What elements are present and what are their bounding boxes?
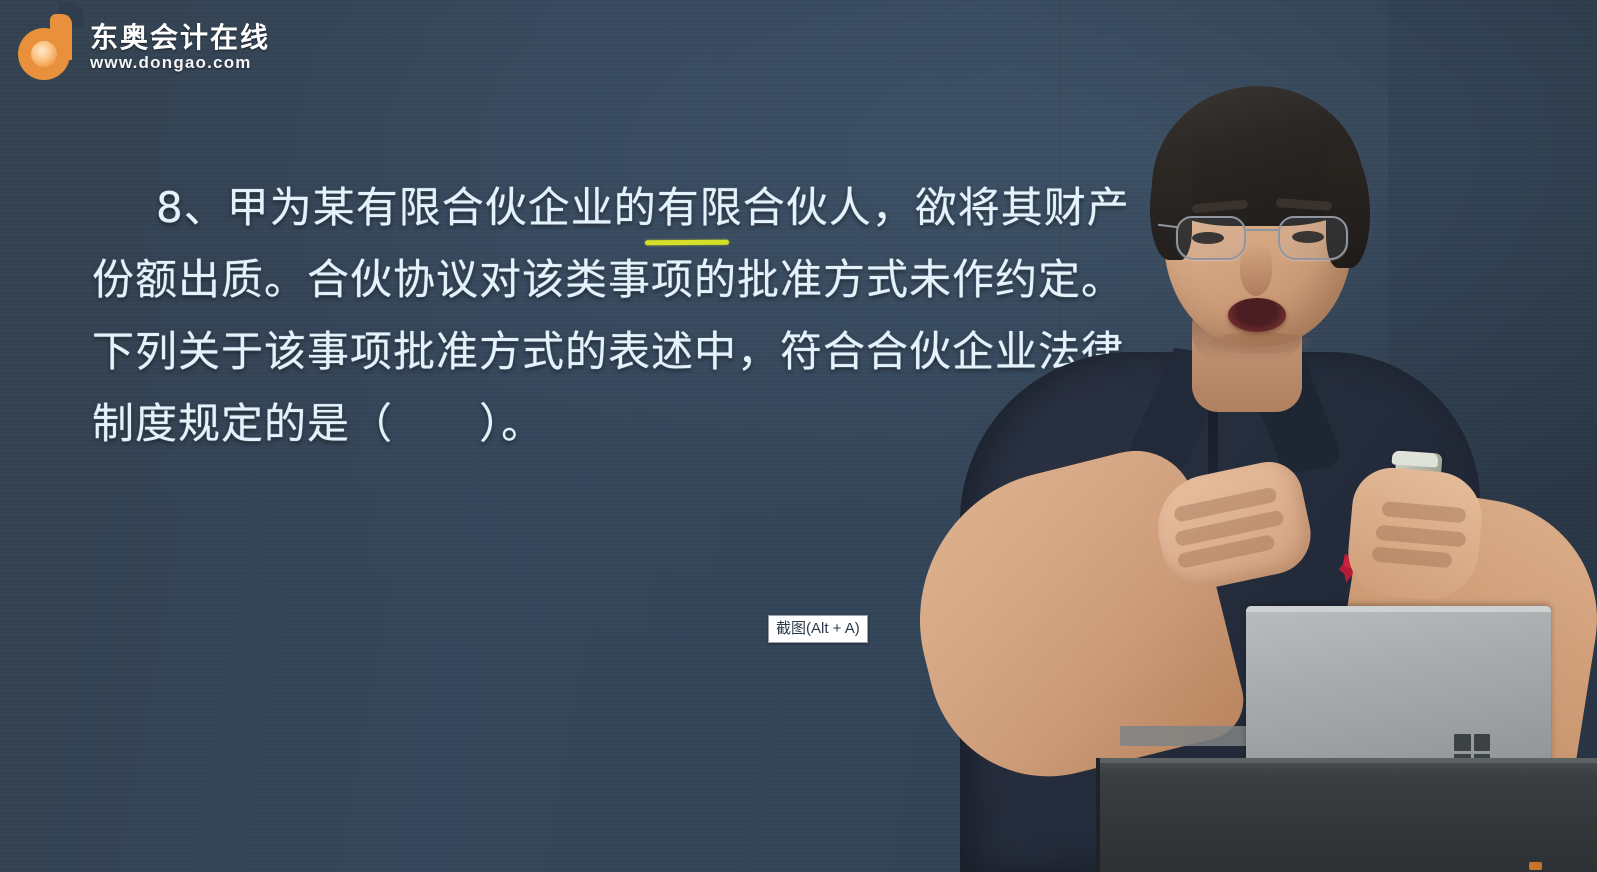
logo-wordmark: 东奥会计在线 www.dongao.com	[90, 23, 270, 71]
podium-top-edge	[1096, 758, 1597, 763]
mouth-open	[1228, 298, 1286, 332]
hand-right-holding-remote	[1345, 465, 1486, 604]
surface-laptop[interactable]	[1246, 606, 1551, 778]
logo-name-cn: 东奥会计在线	[90, 23, 270, 52]
channel-logo: 东奥会计在线 www.dongao.com	[18, 14, 270, 80]
chin-shadow	[1208, 332, 1312, 354]
video-frame: 东奥会计在线 www.dongao.com 8、甲为某有限合伙企业的有限合伙人，…	[0, 0, 1597, 872]
podium-left-edge	[1096, 758, 1100, 872]
podium	[1096, 758, 1597, 872]
yellow-underline-annotation	[645, 240, 729, 246]
screenshot-tooltip[interactable]: 截图(Alt + A)	[768, 615, 868, 643]
laptop-lid-edge	[1246, 606, 1551, 612]
podium-indicator-light	[1529, 862, 1542, 870]
logo-url: www.dongao.com	[90, 54, 270, 71]
nose	[1240, 244, 1272, 296]
dongao-d-logo-icon	[18, 14, 80, 80]
